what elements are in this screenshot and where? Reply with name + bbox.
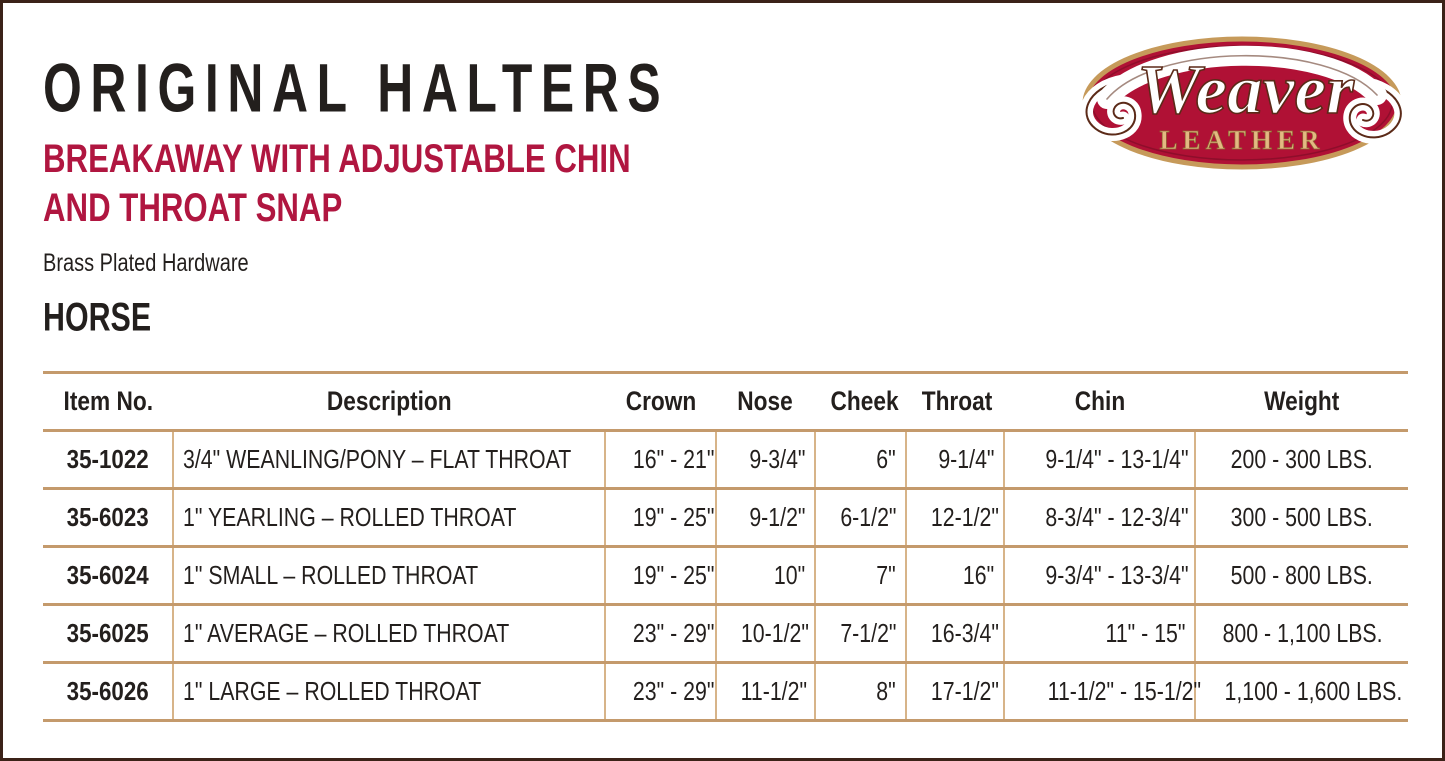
cell-crown: 19" - 25" [605,547,716,605]
cell-throat: 12-1/2" [906,489,1004,547]
cell-weight: 1,100 - 1,600 LBS. [1195,663,1408,721]
cell-chin: 11-1/2" - 15-1/2" [1004,663,1195,721]
cell-chin: 9-1/4" - 13-1/4" [1004,431,1195,489]
cell-item-no[interactable]: 35-6023 [43,489,173,547]
cell-weight: 800 - 1,100 LBS. [1195,605,1408,663]
cell-description: 1" SMALL – ROLLED THROAT [173,547,605,605]
column-header-chin: Chin [1004,373,1195,431]
cell-nose: 9-3/4" [716,431,815,489]
cell-item-no[interactable]: 35-6026 [43,663,173,721]
cell-nose: 9-1/2" [716,489,815,547]
table-body: 35-1022 3/4" WEANLING/PONY – FLAT THROAT… [43,431,1408,721]
logo-sub-text: LEATHER [1159,125,1324,155]
spec-table: Item No. Description Crown Nose Cheek Th… [43,371,1408,722]
column-header-throat: Throat [906,373,1004,431]
table-row[interactable]: 35-1022 3/4" WEANLING/PONY – FLAT THROAT… [43,431,1408,489]
column-header-nose: Nose [716,373,815,431]
cell-cheek: 6" [815,431,906,489]
page-subtitle: BREAKAWAY WITH ADJUSTABLE CHIN AND THROA… [43,135,745,233]
cell-cheek: 7" [815,547,906,605]
cell-crown: 19" - 25" [605,489,716,547]
column-header-description: Description [173,373,605,431]
cell-item-no[interactable]: 35-1022 [43,431,173,489]
hardware-note: Brass Plated Hardware [43,249,763,278]
cell-chin: 11" - 15" [1004,605,1195,663]
cell-description: 1" AVERAGE – ROLLED THROAT [173,605,605,663]
table-row[interactable]: 35-6024 1" SMALL – ROLLED THROAT 19" - 2… [43,547,1408,605]
table-row[interactable]: 35-6023 1" YEARLING – ROLLED THROAT 19" … [43,489,1408,547]
cell-throat: 16-3/4" [906,605,1004,663]
cell-nose: 11-1/2" [716,663,815,721]
cell-item-no[interactable]: 35-6025 [43,605,173,663]
column-header-cheek: Cheek [815,373,906,431]
cell-chin: 9-3/4" - 13-3/4" [1004,547,1195,605]
logo-graphic: Weaver LEATHER [1065,21,1420,186]
cell-item-no[interactable]: 35-6024 [43,547,173,605]
cell-cheek: 7-1/2" [815,605,906,663]
cell-throat: 17-1/2" [906,663,1004,721]
column-header-crown: Crown [605,373,716,431]
column-header-item-no: Item No. [43,373,173,431]
cell-cheek: 8" [815,663,906,721]
column-header-weight: Weight [1195,373,1408,431]
cell-description: 3/4" WEANLING/PONY – FLAT THROAT [173,431,605,489]
cell-weight: 500 - 800 LBS. [1195,547,1408,605]
spec-table-wrap: Item No. Description Crown Nose Cheek Th… [43,371,1408,722]
weaver-leather-logo: Weaver LEATHER [1065,21,1420,186]
cell-weight: 300 - 500 LBS. [1195,489,1408,547]
table-row[interactable]: 35-6026 1" LARGE – ROLLED THROAT 23" - 2… [43,663,1408,721]
cell-description: 1" YEARLING – ROLLED THROAT [173,489,605,547]
cell-weight: 200 - 300 LBS. [1195,431,1408,489]
header-block: ORIGINAL HALTERS BREAKAWAY WITH ADJUSTAB… [43,55,943,339]
cell-crown: 16" - 21" [605,431,716,489]
table-header: Item No. Description Crown Nose Cheek Th… [43,373,1408,431]
page-title: ORIGINAL HALTERS [43,55,817,123]
cell-crown: 23" - 29" [605,663,716,721]
cell-throat: 9-1/4" [906,431,1004,489]
logo-brand-text: Weaver [1137,52,1355,129]
cell-throat: 16" [906,547,1004,605]
table-header-row: Item No. Description Crown Nose Cheek Th… [43,373,1408,431]
cell-nose: 10-1/2" [716,605,815,663]
cell-crown: 23" - 29" [605,605,716,663]
cell-cheek: 6-1/2" [815,489,906,547]
table-row[interactable]: 35-6025 1" AVERAGE – ROLLED THROAT 23" -… [43,605,1408,663]
cell-chin: 8-3/4" - 12-3/4" [1004,489,1195,547]
cell-description: 1" LARGE – ROLLED THROAT [173,663,605,721]
product-spec-sheet: ORIGINAL HALTERS BREAKAWAY WITH ADJUSTAB… [0,0,1445,761]
cell-nose: 10" [716,547,815,605]
animal-category-heading: HORSE [43,296,763,341]
